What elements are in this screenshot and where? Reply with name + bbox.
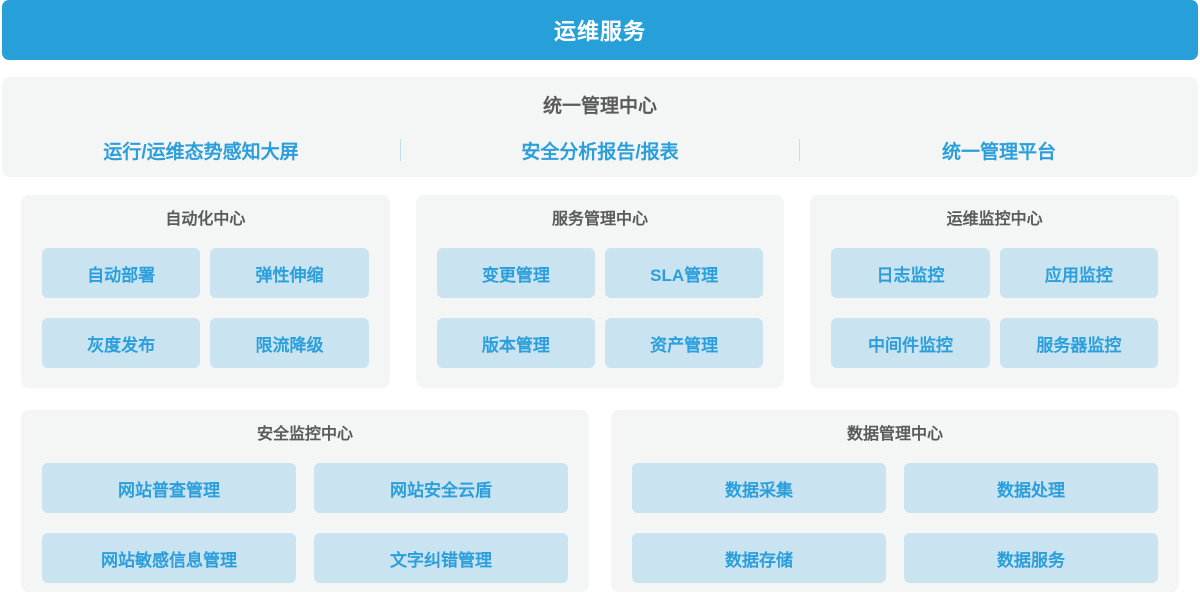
tile-change-management[interactable]: 变更管理 <box>437 248 595 298</box>
management-link-dashboard[interactable]: 运行/运维态势感知大屏 <box>2 137 400 164</box>
tile-gray-release[interactable]: 灰度发布 <box>42 318 200 368</box>
tile-elastic-scaling[interactable]: 弹性伸缩 <box>210 248 368 298</box>
tile-server-monitoring[interactable]: 服务器监控 <box>1000 318 1158 368</box>
panel-title: 运维监控中心 <box>810 195 1179 230</box>
panel-title: 数据管理中心 <box>611 410 1179 445</box>
panel-title: 服务管理中心 <box>416 195 785 230</box>
tile-asset-management[interactable]: 资产管理 <box>605 318 763 368</box>
tile-website-security-cloud-shield[interactable]: 网站安全云盾 <box>314 463 568 513</box>
management-center-title: 统一管理中心 <box>2 91 1198 118</box>
panel-data-management-center: 数据管理中心 数据采集 数据处理 数据存储 数据服务 <box>611 410 1179 592</box>
panel-service-management-center: 服务管理中心 变更管理 SLA管理 版本管理 资产管理 <box>416 195 785 388</box>
tile-data-collection[interactable]: 数据采集 <box>632 463 886 513</box>
tile-grid: 自动部署 弹性伸缩 灰度发布 限流降级 <box>21 230 390 368</box>
tile-sla-management[interactable]: SLA管理 <box>605 248 763 298</box>
tile-grid: 变更管理 SLA管理 版本管理 资产管理 <box>416 230 785 368</box>
tile-data-storage[interactable]: 数据存储 <box>632 533 886 583</box>
management-center-section: 统一管理中心 运行/运维态势感知大屏 安全分析报告/报表 统一管理平台 <box>2 77 1198 177</box>
tile-grid: 数据采集 数据处理 数据存储 数据服务 <box>611 445 1179 583</box>
tile-text-correction-management[interactable]: 文字纠错管理 <box>314 533 568 583</box>
management-link-security-report[interactable]: 安全分析报告/报表 <box>401 137 799 164</box>
panel-row-top: 自动化中心 自动部署 弹性伸缩 灰度发布 限流降级 服务管理中心 变更管理 SL… <box>21 195 1179 388</box>
panel-row-bottom: 安全监控中心 网站普查管理 网站安全云盾 网站敏感信息管理 文字纠错管理 数据管… <box>21 410 1179 592</box>
tile-log-monitoring[interactable]: 日志监控 <box>831 248 989 298</box>
architecture-diagram: 运维服务 统一管理中心 运行/运维态势感知大屏 安全分析报告/报表 统一管理平台… <box>0 0 1200 602</box>
tile-website-census-management[interactable]: 网站普查管理 <box>42 463 296 513</box>
tile-website-sensitive-info-management[interactable]: 网站敏感信息管理 <box>42 533 296 583</box>
tile-rate-limit-degrade[interactable]: 限流降级 <box>210 318 368 368</box>
tile-grid: 日志监控 应用监控 中间件监控 服务器监控 <box>810 230 1179 368</box>
tile-grid: 网站普查管理 网站安全云盾 网站敏感信息管理 文字纠错管理 <box>21 445 589 583</box>
tile-version-management[interactable]: 版本管理 <box>437 318 595 368</box>
page-title: 运维服务 <box>554 14 646 46</box>
panel-ops-monitoring-center: 运维监控中心 日志监控 应用监控 中间件监控 服务器监控 <box>810 195 1179 388</box>
tile-data-service[interactable]: 数据服务 <box>904 533 1158 583</box>
tile-auto-deploy[interactable]: 自动部署 <box>42 248 200 298</box>
panel-automation-center: 自动化中心 自动部署 弹性伸缩 灰度发布 限流降级 <box>21 195 390 388</box>
panel-security-monitoring-center: 安全监控中心 网站普查管理 网站安全云盾 网站敏感信息管理 文字纠错管理 <box>21 410 589 592</box>
panel-title: 自动化中心 <box>21 195 390 230</box>
header-bar: 运维服务 <box>2 0 1198 60</box>
tile-application-monitoring[interactable]: 应用监控 <box>1000 248 1158 298</box>
management-center-links: 运行/运维态势感知大屏 安全分析报告/报表 统一管理平台 <box>2 134 1198 166</box>
tile-data-processing[interactable]: 数据处理 <box>904 463 1158 513</box>
tile-middleware-monitoring[interactable]: 中间件监控 <box>831 318 989 368</box>
panel-title: 安全监控中心 <box>21 410 589 445</box>
management-link-platform[interactable]: 统一管理平台 <box>800 137 1198 164</box>
